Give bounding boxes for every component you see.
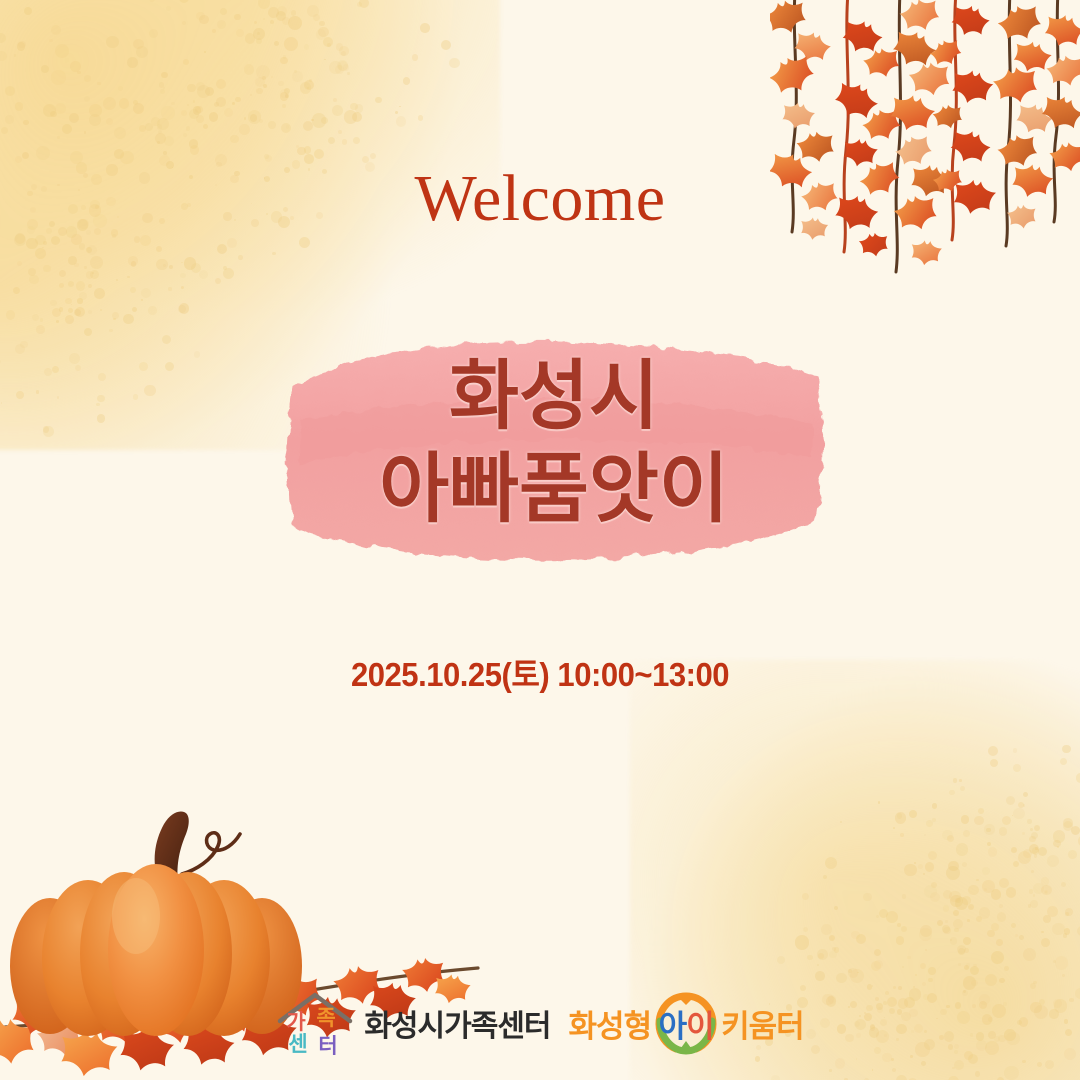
family-center-logo: 가 족 센 터 화성시가족센터 <box>276 991 550 1055</box>
svg-text:센: 센 <box>289 1032 308 1055</box>
footer-logos: 가 족 센 터 화성시가족센터 화성형 아 이 <box>0 980 1080 1066</box>
svg-text:터: 터 <box>319 1034 338 1055</box>
poster-canvas: Welcome 화성시 아빠품앗이 2025.10.25(토) 1 <box>0 0 1080 1080</box>
family-center-label: 화성시가족센터 <box>364 1001 550 1045</box>
ikium-char-i: 이 <box>686 1001 714 1046</box>
hanging-vines-decoration <box>770 0 1080 300</box>
welcome-heading: Welcome <box>0 166 1080 232</box>
main-title: 화성시 아빠품앗이 <box>278 350 830 535</box>
ikium-char-a: 아 <box>659 1001 687 1046</box>
ikium-prefix: 화성형 <box>569 1001 652 1046</box>
ikium-suffix: 키움터 <box>721 1001 804 1046</box>
ikium-ring-icon: 아 이 <box>654 991 718 1055</box>
family-center-house-icon: 가 족 센 터 <box>276 991 354 1055</box>
title-brush-block: 화성시 아빠품앗이 <box>278 326 830 578</box>
ikium-logo: 화성형 아 이 키움터 <box>569 991 804 1055</box>
svg-text:족: 족 <box>317 1006 336 1030</box>
event-datetime: 2025.10.25(토) 10:00~13:00 <box>32 648 1047 696</box>
svg-text:가: 가 <box>287 1010 307 1034</box>
